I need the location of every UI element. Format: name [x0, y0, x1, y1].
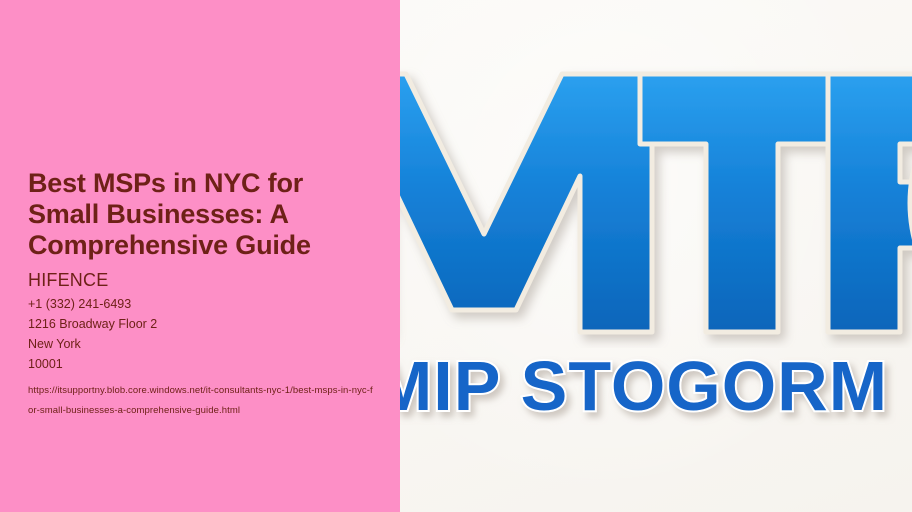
- contact-street: 1216 Broadway Floor 2: [28, 314, 373, 334]
- info-stack: Best MSPs in NYC for Small Businesses: A…: [28, 168, 373, 421]
- company-logo: MIP STOGORM: [400, 0, 912, 512]
- source-url[interactable]: https://itsupportny.blob.core.windows.ne…: [28, 381, 373, 421]
- contact-details: +1 (332) 241-6493 1216 Broadway Floor 2 …: [28, 294, 373, 374]
- contact-postal-code: 10001: [28, 354, 373, 374]
- info-panel: Best MSPs in NYC for Small Businesses: A…: [0, 0, 400, 512]
- brand-name: HIFENCE: [28, 269, 373, 291]
- page-title: Best MSPs in NYC for Small Businesses: A…: [28, 168, 373, 261]
- contact-city: New York: [28, 334, 373, 354]
- promo-poster: Best MSPs in NYC for Small Businesses: A…: [0, 0, 912, 512]
- logo-subtitle-icon: MIP STOGORM: [400, 348, 912, 440]
- logo-subtitle-text: MIP STOGORM: [400, 348, 888, 425]
- logo-wordmark-icon: [400, 58, 912, 348]
- contact-phone: +1 (332) 241-6493: [28, 294, 373, 314]
- logo-panel: MIP STOGORM: [400, 0, 912, 512]
